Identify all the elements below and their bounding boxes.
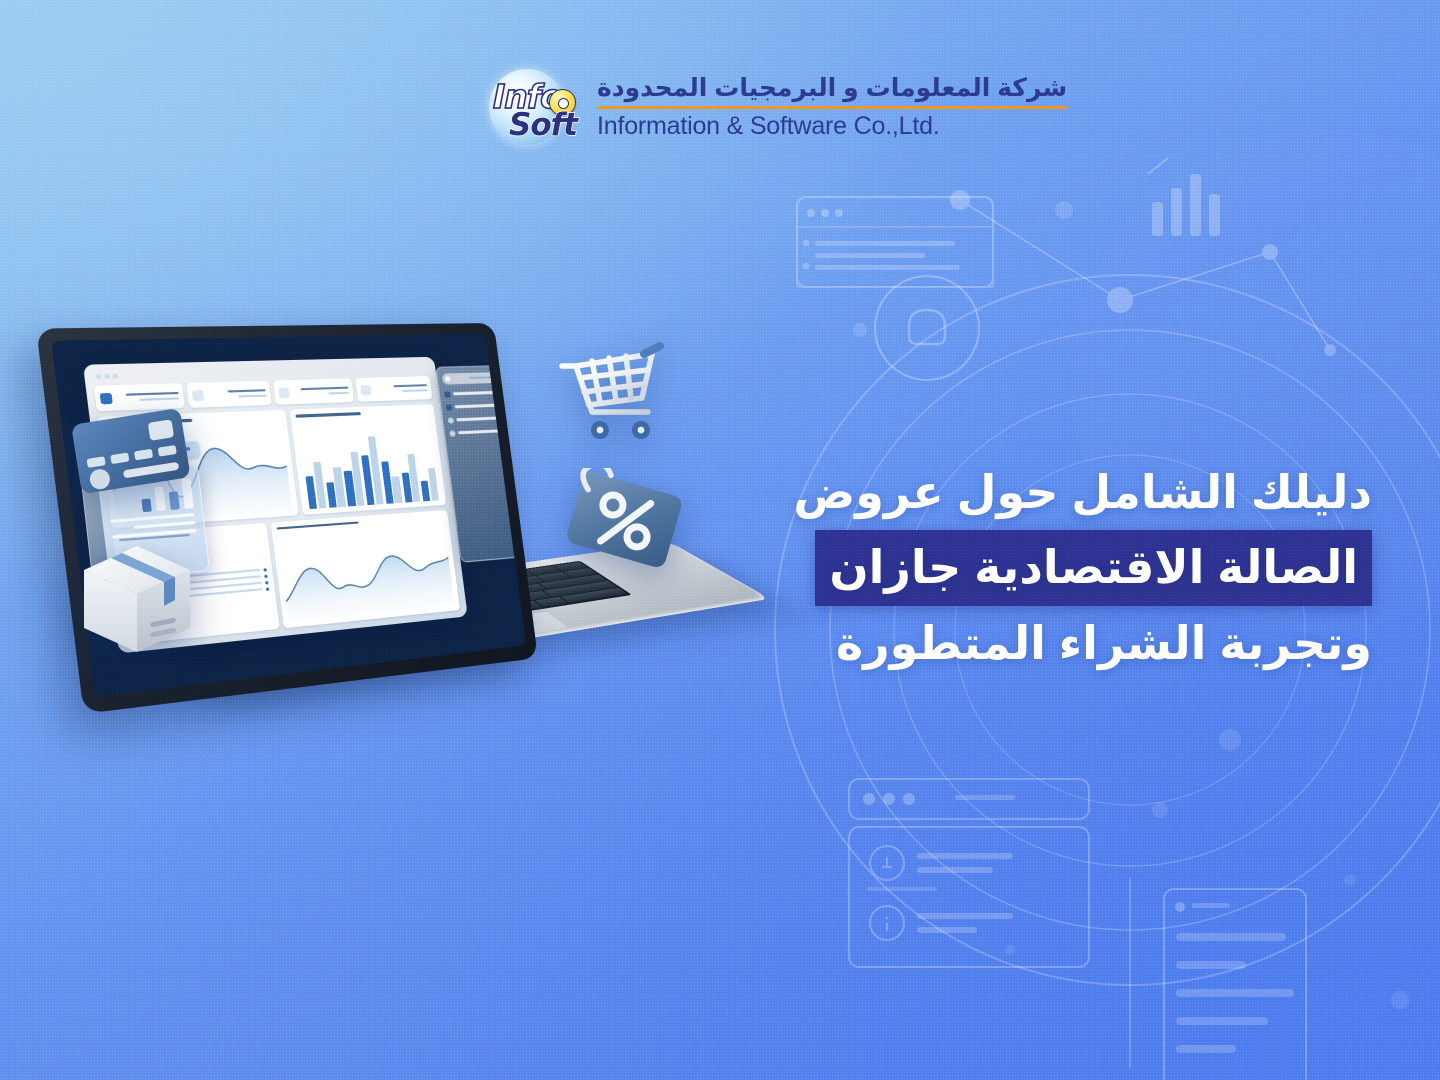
company-name-arabic: شركة المعلومات و البرمجيات المحدودة <box>597 74 1067 102</box>
stat-icon <box>191 390 204 401</box>
trend-area-chart <box>277 521 454 623</box>
bar-chart <box>296 415 440 509</box>
headline-line-1: دليلك الشامل حول عروض <box>732 462 1372 523</box>
headline-line-3: وتجربة الشراء المتطورة <box>732 613 1372 674</box>
cursor-click-decor <box>862 268 992 388</box>
bar-chart-panel[interactable] <box>290 404 447 514</box>
logo-soft-text: Soft <box>509 107 577 143</box>
company-name-english: Information & Software Co.,Ltd. <box>597 112 1067 140</box>
connector-line-decor <box>1110 878 1150 1080</box>
mini-bar-chart-decor <box>1138 150 1248 240</box>
trend-chart-panel[interactable] <box>270 510 460 629</box>
stat-card-3[interactable] <box>186 381 272 408</box>
company-logo[interactable]: Info Soft شركة المعلومات و البرمجيات الم… <box>487 66 1067 148</box>
profile-card-decor <box>845 775 1095 1005</box>
window-dot <box>113 373 118 378</box>
stat-card-1[interactable] <box>355 376 432 402</box>
infosoft-logo-mark: Info Soft <box>487 67 583 147</box>
banner-canvas: Info Soft شركة المعلومات و البرمجيات الم… <box>0 0 1440 1080</box>
card-text-line <box>112 529 196 539</box>
headline-line-2-text: الصالة الاقتصادية جازان <box>815 530 1372 607</box>
stat-icon <box>360 384 371 395</box>
row-icon <box>446 404 453 410</box>
logo-divider <box>597 106 1067 109</box>
headline-line-2-highlight: الصالة الاقتصادية جازان <box>732 530 1372 607</box>
window-dot <box>97 374 102 379</box>
credit-card-icon <box>70 408 192 496</box>
window-dot <box>105 374 110 379</box>
logo-wordmark: شركة المعلومات و البرمجيات المحدودة Info… <box>597 74 1067 140</box>
list-card-decor <box>1160 885 1310 1080</box>
shield-icon <box>100 392 113 403</box>
package-box-icon <box>78 540 196 658</box>
row-icon <box>449 430 456 436</box>
row-icon <box>444 391 451 397</box>
side-panel-row[interactable] <box>449 427 515 436</box>
search-icon <box>445 376 450 381</box>
side-panel-row[interactable] <box>446 402 512 410</box>
card-text-line <box>133 521 195 529</box>
browser-window-decor <box>795 195 995 375</box>
side-panel-row[interactable] <box>447 414 513 423</box>
node-network-decor <box>940 180 1360 480</box>
side-panel-row[interactable] <box>444 389 510 397</box>
search-field[interactable] <box>442 371 509 384</box>
panel-title-bar <box>296 412 362 417</box>
row-icon <box>447 417 454 423</box>
stat-icon <box>278 387 290 398</box>
headline-block: دليلك الشامل حول عروض الصالة الاقتصادية … <box>732 462 1372 674</box>
discount-tag-icon <box>552 468 690 580</box>
stat-card-2[interactable] <box>273 378 354 405</box>
shopping-cart-icon <box>556 336 672 446</box>
